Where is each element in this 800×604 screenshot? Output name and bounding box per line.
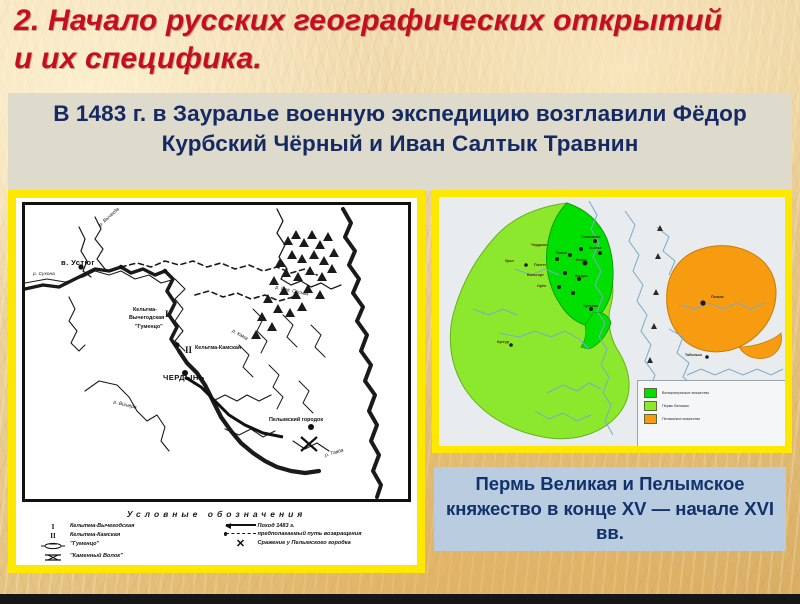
- legend-item-label: Пермь Великая: [662, 404, 689, 408]
- bottom-letterbox-bar: [0, 594, 800, 604]
- kamenny-volok-icon: [36, 553, 70, 564]
- map-label-cherdyn: ЧЕРДЫНЬ: [163, 373, 205, 382]
- map-label-keltma-vych-1: Кельтма-: [133, 307, 157, 313]
- right-map-label-vilgort: Вильгорт: [527, 273, 544, 277]
- legend-item-label: Пелымское княжество: [662, 417, 700, 421]
- left-map-sheet: I II в. Устюг р. Сухона р. Вычегда Кельт…: [16, 198, 417, 565]
- legend-item-label: "Гуменцо": [70, 541, 99, 547]
- right-map-label-usolye: Усолье: [589, 246, 602, 250]
- right-map-label-oryol: Орёл: [537, 284, 546, 288]
- subtitle-panel: В 1483 г. в Зауралье военную экспедицию …: [8, 93, 792, 191]
- map-label-gumentso: "Гуменцо": [135, 324, 163, 330]
- march-arrow-icon: [224, 523, 258, 530]
- left-map-frame: I II в. Устюг р. Сухона р. Вычегда Кельт…: [22, 202, 411, 502]
- right-map-label-tobolsk: Тобольск: [685, 353, 702, 357]
- right-map-label-pyanteg: Пянтег: [534, 263, 546, 267]
- svg-text:II: II: [185, 345, 193, 355]
- legend-item-label: Кельтма-Камская: [70, 532, 120, 538]
- slide-title: 2. Начало русских географических открыти…: [14, 2, 734, 79]
- map-caption-text: Пермь Великая и Пелымское княжество в ко…: [434, 472, 786, 545]
- right-map-label-kondas: Кондас: [575, 274, 588, 278]
- legend-item: Пермь Великая: [644, 401, 780, 411]
- legend-item-label: предполагаемый путь возвращения: [258, 531, 362, 537]
- presentation-slide: 2. Начало русских географических открыти…: [0, 0, 800, 604]
- map-caption-panel: Пермь Великая и Пелымское княжество в ко…: [434, 467, 786, 551]
- legend-item: "Каменный Волок": [36, 553, 224, 564]
- right-map-label-chusovaya: Чусовая: [583, 304, 598, 308]
- map-label-sukhona: р. Сухона: [33, 272, 55, 277]
- legend-item-label: "Каменный Волок": [70, 553, 123, 559]
- gumentso-icon: [36, 541, 70, 552]
- map-label-keltma-vych-2: Вычегодская: [129, 315, 164, 321]
- legend-item-label: Великопермское княжество: [662, 391, 709, 395]
- legend-item: "Гуменцо": [36, 541, 224, 552]
- right-map-label-solikamsk: Соликамск: [581, 235, 600, 239]
- battle-cross-icon: ✕: [224, 540, 258, 550]
- right-map-label-pokcha: Покча: [556, 251, 567, 255]
- right-map-figure: Соликамск Усолье Чердынь Покча Искор Уро…: [432, 190, 792, 453]
- legend-item: Пелымское княжество: [644, 414, 780, 424]
- legend-swatch-orange: [644, 414, 657, 424]
- right-map-label-cherdyn: Чердынь: [531, 243, 547, 247]
- legend-item-label: Поход 1483 г.: [258, 523, 295, 529]
- left-map-drawing: I II: [25, 205, 411, 499]
- right-map-label-pelym: Пелым: [711, 295, 724, 299]
- legend-item-label: Сражение у Пелымского городка: [258, 540, 351, 546]
- map-label-ustyug: в. Устюг: [61, 258, 95, 267]
- gumentso-glyph: [40, 541, 66, 550]
- right-map-label-urol: Урол: [505, 259, 514, 263]
- roman-one-icon: I: [36, 523, 70, 531]
- legend-swatch-green: [644, 388, 657, 398]
- legend-swatch-light-green: [644, 401, 657, 411]
- map-label-pelymsky-gorodok: Пелымский городок: [269, 417, 323, 423]
- legend-item: Великопермское княжество: [644, 388, 780, 398]
- legend-column-right: Поход 1483 г. предполагаемый путь возвра…: [224, 523, 412, 565]
- right-map-legend: Великопермское княжество Пермь Великая П…: [637, 380, 785, 446]
- legend-item: I Кельтма-Вычегодская: [36, 523, 224, 531]
- left-map-figure: I II в. Устюг р. Сухона р. Вычегда Кельт…: [8, 190, 425, 573]
- legend-item: II Кельтма-Камская: [36, 532, 224, 540]
- legend-item-label: Кельтма-Вычегодская: [70, 523, 134, 529]
- right-map-sheet: Соликамск Усолье Чердынь Покча Искор Уро…: [439, 197, 785, 446]
- subtitle-text: В 1483 г. в Зауралье военную экспедицию …: [35, 93, 765, 159]
- legend-item: предполагаемый путь возвращения: [224, 531, 412, 538]
- map-label-keltma-kamskaya: Кельтма-Камская: [195, 345, 241, 351]
- right-map-label-iskor: Искор: [576, 258, 587, 262]
- svg-text:I: I: [165, 309, 169, 319]
- left-map-legend: Условные обозначения I Кельтма-Вычегодск…: [22, 506, 411, 563]
- legend-item: Поход 1483 г.: [224, 523, 412, 530]
- roman-two-icon: II: [36, 532, 70, 540]
- legend-column-left: I Кельтма-Вычегодская II Кельтма-Камская: [36, 523, 224, 565]
- legend-title: Условные обозначения: [22, 509, 411, 519]
- volok-glyph: [40, 553, 66, 562]
- right-map-label-kungur: Кунгур: [497, 340, 509, 344]
- legend-item: ✕ Сражение у Пелымского городка: [224, 540, 412, 550]
